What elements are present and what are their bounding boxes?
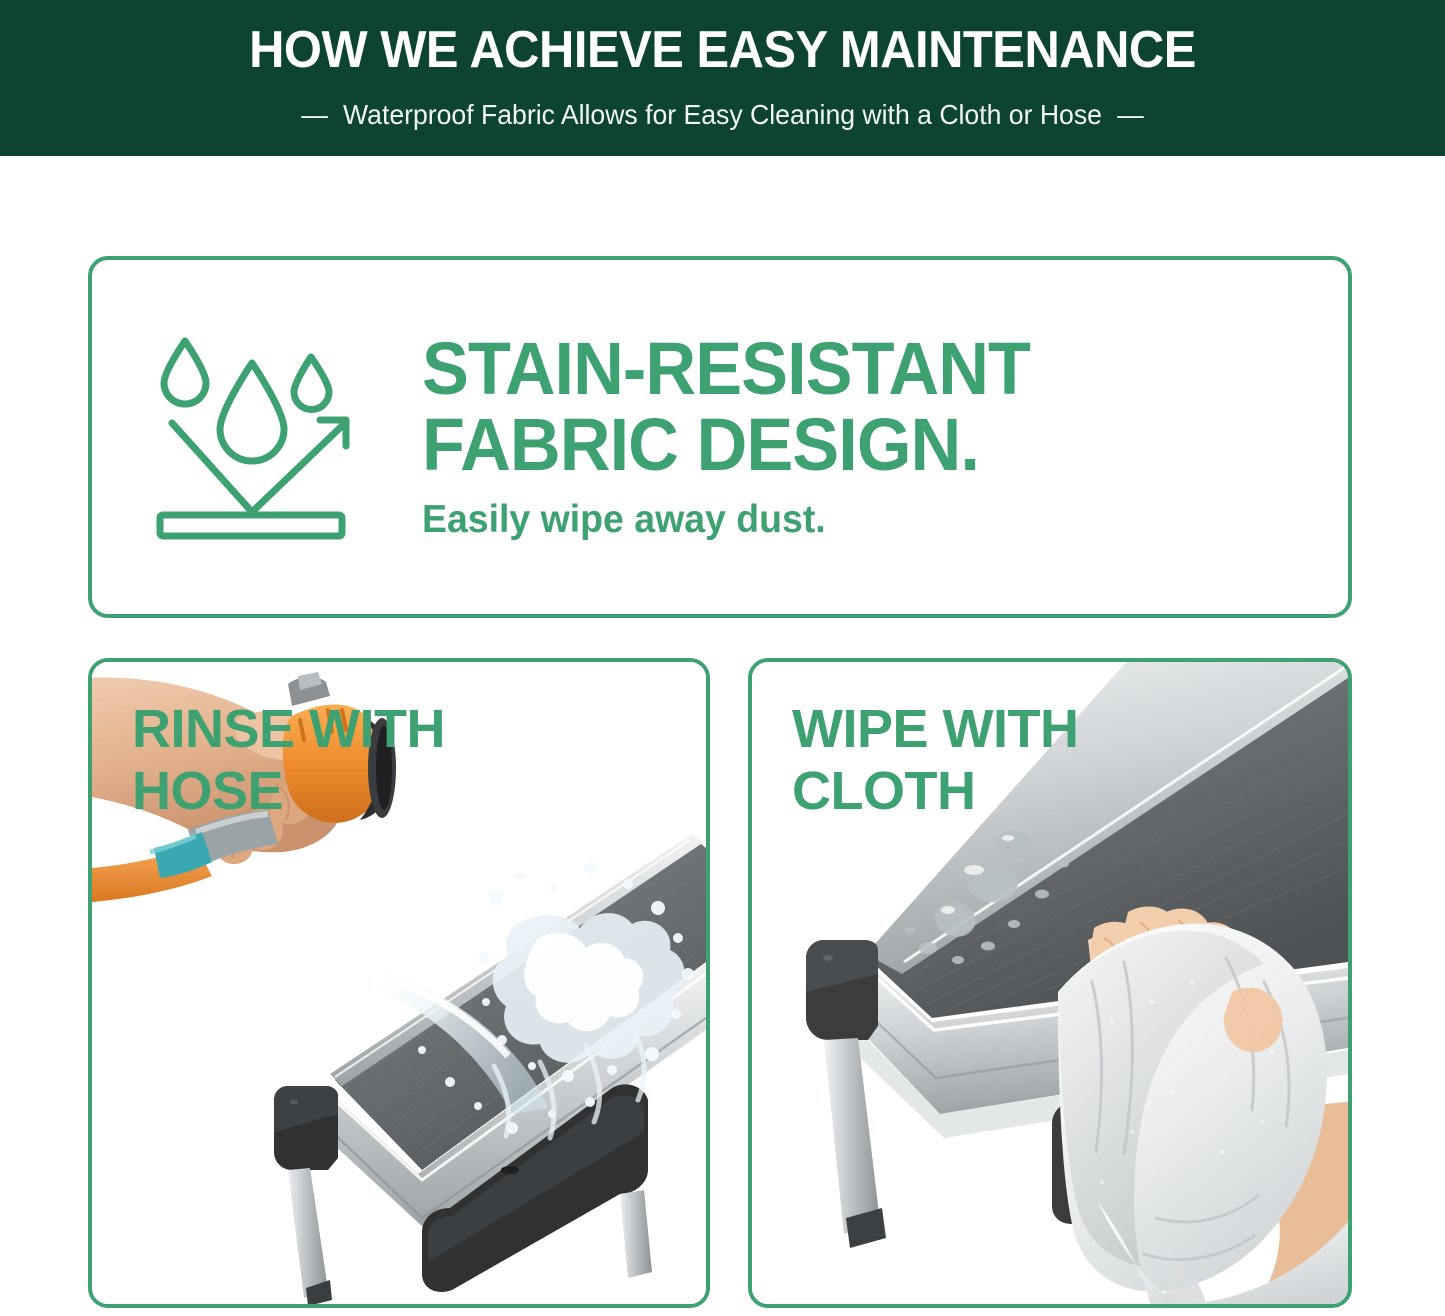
page-title: HOW WE ACHIEVE EASY MAINTENANCE [43, 21, 1401, 79]
feature-title-line-1: STAIN-RESISTANT [422, 331, 1277, 407]
rinse-with-hose-card: RINSE WITH HOSE [88, 658, 710, 1308]
page-subtitle-text: Waterproof Fabric Allows for Easy Cleani… [343, 99, 1102, 130]
feature-card-stain-resistant: STAIN-RESISTANT FABRIC DESIGN. Easily wi… [88, 256, 1352, 618]
wipe-with-cloth-card: WIPE WITH CLOTH [748, 658, 1352, 1308]
feature-subtitle: Easily wipe away dust. [422, 497, 1286, 543]
hand-spraying-hose-on-pet-cot-photo [92, 662, 706, 1304]
feature-row: STAIN-RESISTANT FABRIC DESIGN. Easily wi… [92, 260, 1348, 614]
water-repellent-fabric-icon [92, 327, 422, 547]
dash-left: — [286, 99, 343, 130]
page-header-banner: HOW WE ACHIEVE EASY MAINTENANCE —Waterpr… [0, 0, 1445, 156]
feature-title-line-2: FABRIC DESIGN. [422, 407, 1277, 483]
feature-text-block: STAIN-RESISTANT FABRIC DESIGN. Easily wi… [422, 331, 1348, 543]
dash-right: — [1102, 99, 1159, 130]
hand-wiping-cot-with-cloth-photo [752, 662, 1348, 1304]
page-subtitle: —Waterproof Fabric Allows for Easy Clean… [36, 98, 1409, 132]
